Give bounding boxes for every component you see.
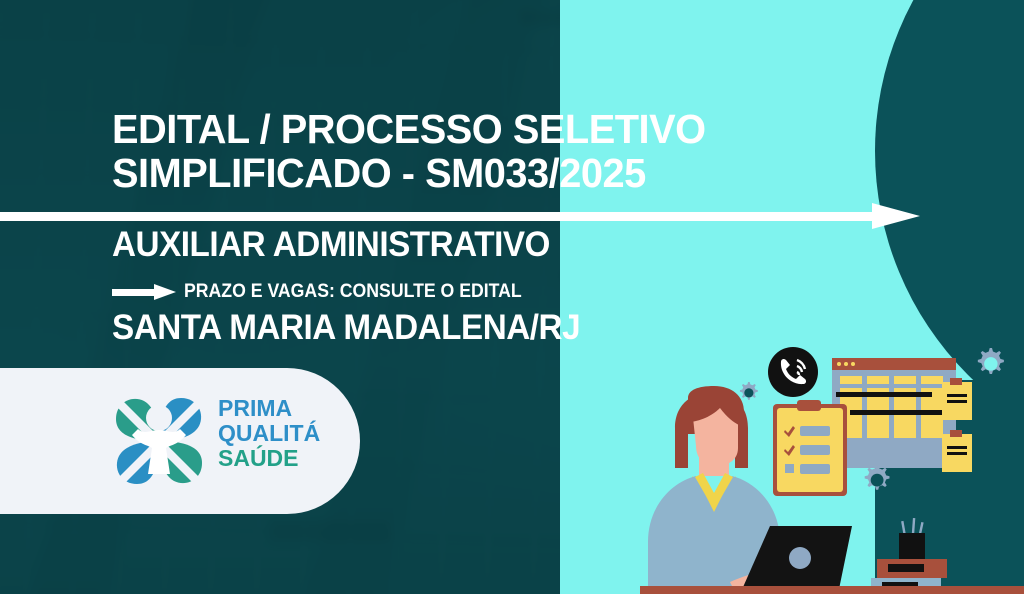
sticky-note <box>942 378 972 420</box>
page-title: EDITAL / PROCESSO SELETIVO SIMPLIFICADO … <box>112 107 706 195</box>
pencil-cup <box>899 518 925 563</box>
logo-line-3: SAÚDE <box>218 446 320 471</box>
sticky-note <box>942 430 972 472</box>
office-worker-illustration <box>640 330 1024 594</box>
job-posting-banner: EDITAL / PROCESSO SELETIVO SIMPLIFICADO … <box>0 0 1024 594</box>
small-arrow-shaft <box>112 289 156 296</box>
long-arrow-head <box>872 203 920 229</box>
small-arrow-head <box>154 284 176 300</box>
spreadsheet-window <box>832 358 956 468</box>
deadline-vacancies-note: PRAZO E VAGAS: CONSULTE O EDITAL <box>184 281 522 303</box>
subtitle-row: PRAZO E VAGAS: CONSULTE O EDITAL <box>112 279 547 305</box>
desk <box>640 586 1024 594</box>
small-arrow-icon <box>112 284 176 300</box>
logo-card: PRIMA QUALITÁ SAÚDE <box>0 368 360 514</box>
clipboard-checklist <box>773 400 847 496</box>
phone-ring-icon <box>768 347 818 397</box>
four-petal-person-logo-icon <box>108 390 210 492</box>
long-arrow-shaft <box>0 212 880 221</box>
logo-line-2: QUALITÁ <box>218 421 320 446</box>
city-location-title: SANTA MARIA MADALENA/RJ <box>112 309 580 346</box>
logo-wordmark: PRIMA QUALITÁ SAÚDE <box>218 396 320 471</box>
job-role-title: AUXILIAR ADMINISTRATIVO <box>112 226 550 263</box>
logo-line-1: PRIMA <box>218 396 320 421</box>
